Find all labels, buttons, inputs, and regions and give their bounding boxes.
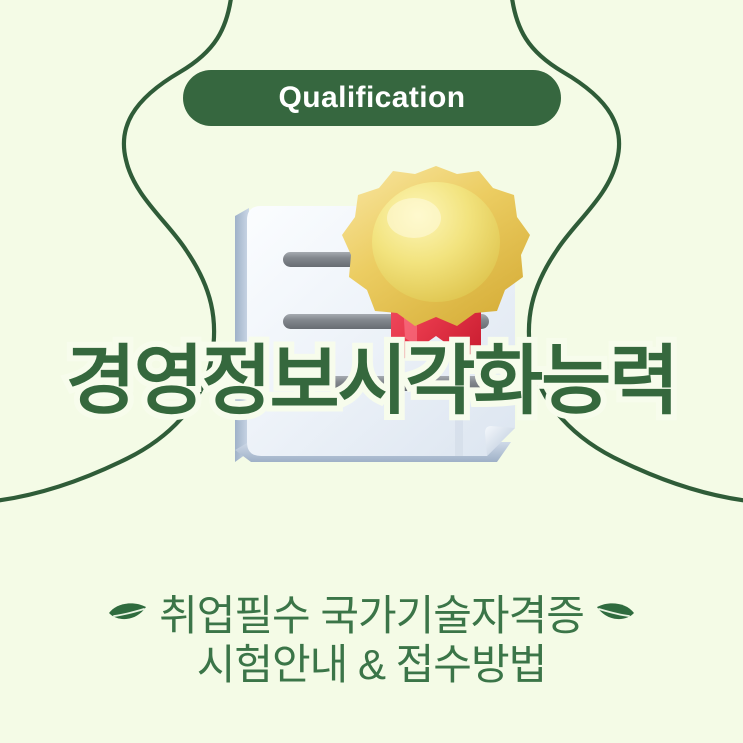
main-title: 경영정보시각화능력 — [66, 344, 677, 420]
subtitle-line-1-row: 취업필수 국가기술자격증 — [0, 592, 743, 641]
subtitle-line-1: 취업필수 국가기술자격증 — [159, 592, 584, 641]
subtitle-line-2: 시험안내 & 접수방법 — [197, 641, 546, 690]
leaf-right-icon — [594, 601, 638, 631]
medal-dome-highlight — [387, 198, 441, 238]
qualification-card: Qualification — [0, 0, 743, 743]
subtitle-block: 취업필수 국가기술자격증 시험안내 & 접수방법 — [0, 592, 743, 689]
qualification-badge[interactable]: Qualification — [183, 70, 561, 126]
medal-center-dome — [372, 182, 500, 302]
subtitle-line-2-row: 시험안내 & 접수방법 — [0, 641, 743, 690]
qualification-badge-label: Qualification — [279, 83, 466, 113]
main-title-wrap: 경영정보시각화능력 — [0, 344, 743, 420]
leaf-left-icon — [105, 601, 149, 631]
certificate-illustration — [205, 150, 545, 520]
